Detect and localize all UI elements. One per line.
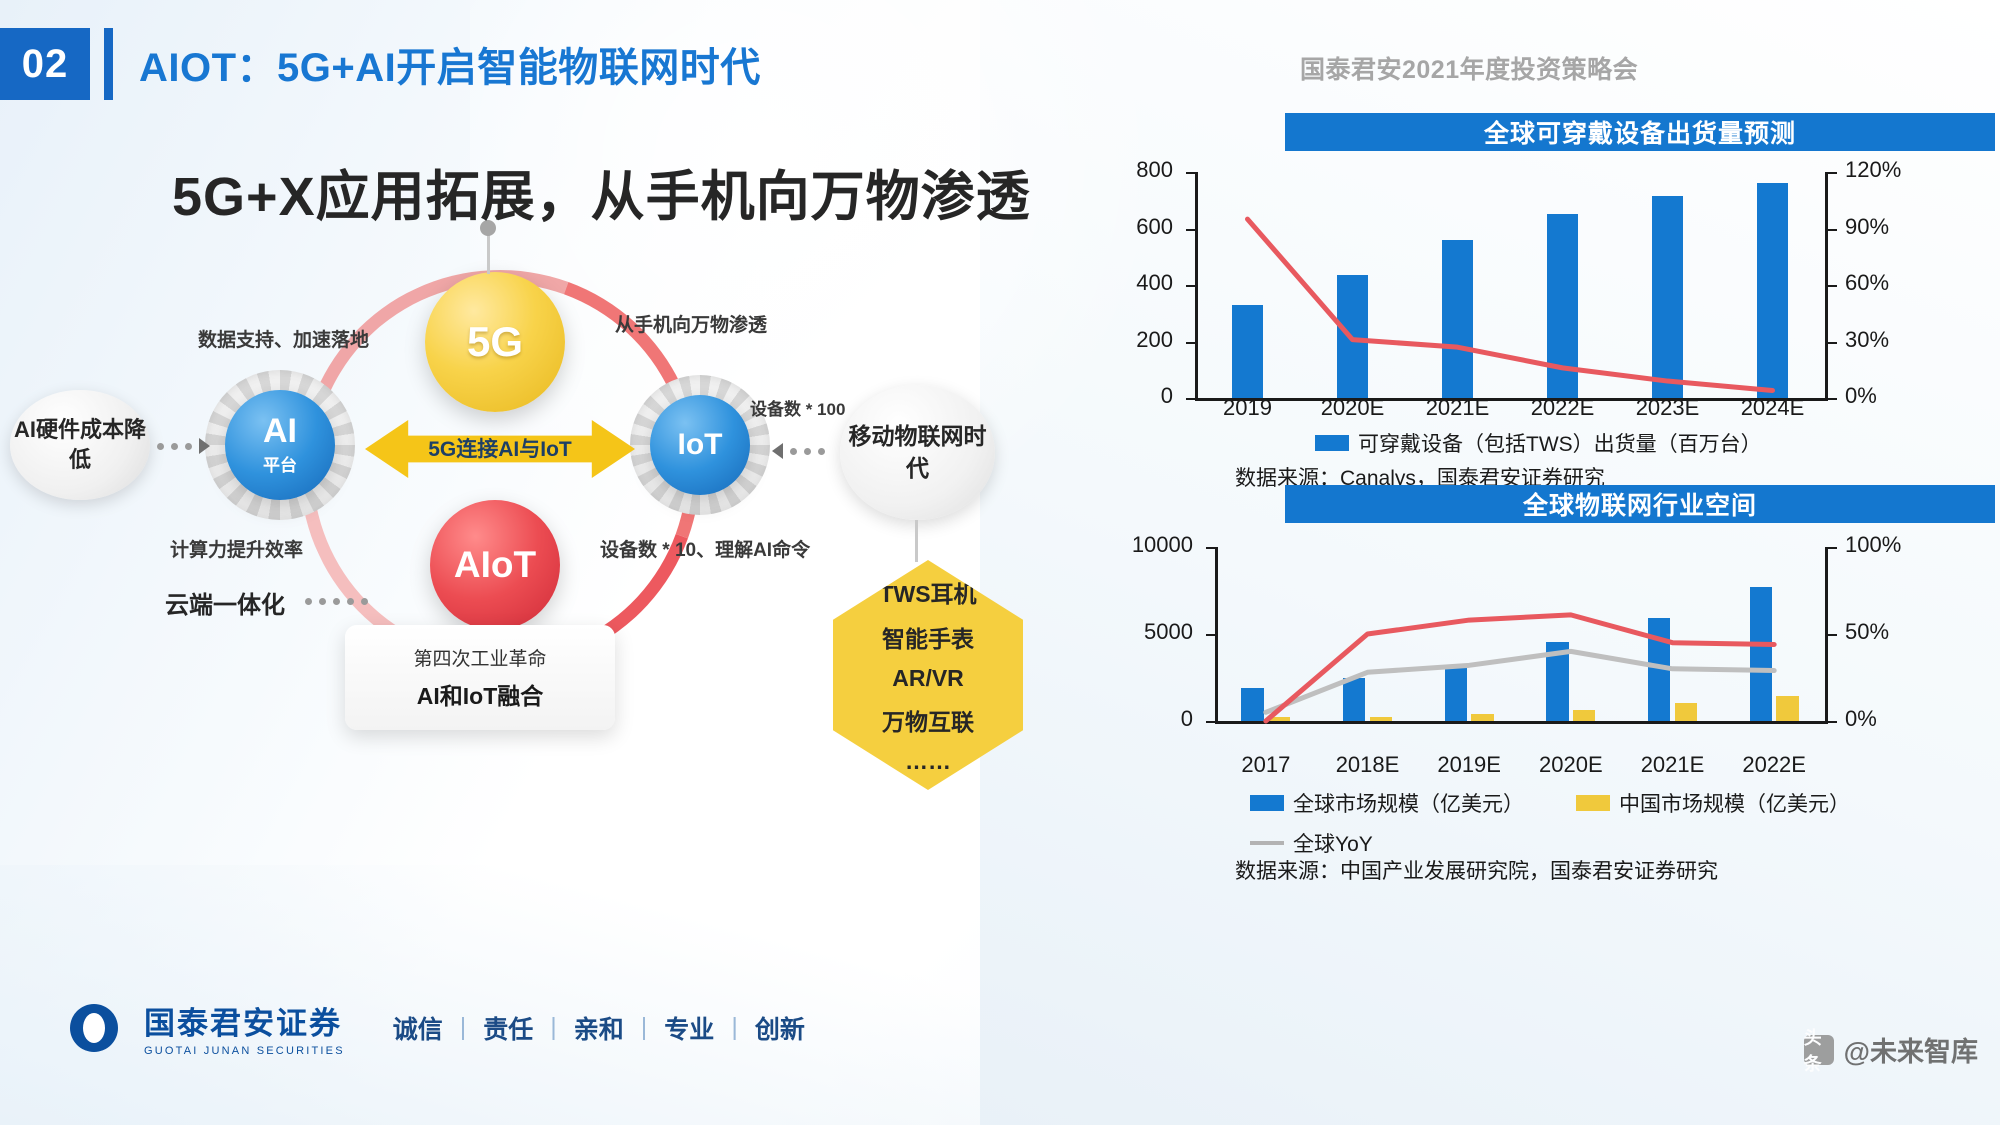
x-tick-label: 2017 — [1241, 752, 1290, 778]
x-tick-label: 2019 — [1223, 395, 1272, 421]
slide-headline: 5G+X应用拓展，从手机向万物渗透 — [172, 152, 1031, 231]
pill-mobile-iot-era: 移动物联网时代 — [840, 385, 995, 520]
label-cloud-edge: 云端一体化 — [165, 585, 285, 620]
logo-name-en: GUOTAI JUNAN SECURITIES — [144, 1045, 345, 1057]
chart-1-legend-label-0: 可穿戴设备（包括TWS）出货量（百万台） — [1358, 428, 1762, 458]
logo-text: 国泰君安证券 GUOTAI JUNAN SECURITIES — [144, 998, 345, 1057]
node-iot-label: IoT — [678, 428, 723, 462]
x-tick-label: 2019E — [1437, 752, 1501, 778]
legend-swatch-yellow-icon — [1576, 795, 1610, 811]
chart-1-title: 全球可穿戴设备出货量预测 — [1285, 113, 1995, 151]
chart-2-legend-item-0: 全球市场规模（亿美元） — [1250, 788, 1524, 818]
value-3: 专业 — [664, 1010, 714, 1046]
hex-item-2: AR/VR — [892, 665, 964, 692]
chart-lines — [1005, 525, 1885, 731]
x-tick-label: 2022E — [1742, 752, 1806, 778]
hex-item-1: 智能手表 — [882, 620, 974, 654]
chart-2-plot-area: 1000050000100%50%0% — [1005, 525, 2000, 755]
chart-2-legend-item-1: 中国市场规模（亿美元） — [1576, 788, 1850, 818]
chart-2-legend-label-1: 中国市场规模（亿美元） — [1619, 788, 1850, 818]
connector-dots-cloud — [305, 598, 368, 605]
node-ai-label: AI — [263, 414, 297, 448]
node-aiot[interactable]: AIoT — [430, 500, 560, 630]
node-iot[interactable]: IoT — [650, 395, 750, 495]
chart-2-source: 数据来源：中国产业发展研究院，国泰君安证券研究 — [1235, 855, 1718, 885]
label-devices-100: 设备数 * 100 — [750, 395, 845, 420]
card-line-2: AI和IoT融合 — [417, 677, 544, 711]
value-sep-1: | — [550, 1013, 557, 1042]
x-tick-label: 2023E — [1636, 395, 1700, 421]
section-number: 02 — [0, 28, 90, 100]
chart-2-xaxis: 20172018E2019E2020E2021E2022E — [1300, 752, 2000, 786]
legend-swatch-gray-line-icon — [1250, 841, 1284, 845]
chart-2-legend-label-0: 全球市场规模（亿美元） — [1293, 788, 1524, 818]
chart-1-xaxis: 20192020E2021E2022E2023E2024E — [1300, 395, 2000, 429]
x-tick-label: 2020E — [1539, 752, 1603, 778]
value-sep-0: | — [460, 1013, 467, 1042]
deck-title: 国泰君安2021年度投资策略会 — [1300, 50, 1638, 86]
value-sep-3: | — [731, 1013, 738, 1042]
footer-branding: 国泰君安证券 GUOTAI JUNAN SECURITIES 诚信 | 责任 |… — [70, 998, 805, 1057]
value-4: 创新 — [755, 1010, 805, 1046]
x-tick-label: 2018E — [1336, 752, 1400, 778]
chart-2-legend-label-2: 全球YoY — [1293, 828, 1373, 858]
node-ai[interactable]: AI 平台 — [225, 390, 335, 500]
logo-name-cn: 国泰君安证券 — [144, 998, 345, 1043]
chart-2-title: 全球物联网行业空间 — [1285, 485, 1995, 523]
value-1: 责任 — [483, 1010, 533, 1046]
hex-item-4: …… — [905, 748, 951, 775]
label-data-support: 数据支持、加速落地 — [198, 325, 369, 352]
card-line-1: 第四次工业革命 — [413, 644, 546, 671]
connector-hex-vertical — [915, 520, 918, 562]
value-0: 诚信 — [393, 1010, 443, 1046]
node-5g-label: 5G — [467, 318, 523, 366]
x-tick-label: 2020E — [1321, 395, 1385, 421]
label-compute-power: 计算力提升效率 — [170, 535, 303, 562]
value-sep-2: | — [641, 1013, 648, 1042]
connector-dots-right — [772, 443, 825, 459]
aiot-diagram: 5G连接AI与IoT 5G AI 平台 IoT AIoT 数据支持、加速落地 从… — [0, 230, 1000, 870]
node-ai-sublabel: 平台 — [263, 451, 297, 476]
pill-ai-cost: AI硬件成本降低 — [10, 390, 150, 500]
value-2: 亲和 — [574, 1010, 624, 1046]
chart-2-legend-item-2: 全球YoY — [1250, 828, 1990, 858]
toutiao-icon: 头条 — [1804, 1035, 1834, 1065]
x-tick-label: 2024E — [1741, 395, 1805, 421]
background-bottom-wash — [0, 865, 1000, 1125]
hex-item-3: 万物互联 — [882, 703, 974, 737]
page-title: AIOT：5G+AI开启智能物联网时代 — [139, 35, 761, 93]
chart-panel-iot-space: 全球物联网行业空间 — [1285, 485, 1995, 523]
chart-lines — [1005, 150, 1885, 408]
label-devices-10: 设备数 * 10、理解AI命令 — [600, 535, 810, 562]
x-tick-label: 2021E — [1426, 395, 1490, 421]
slide-header: 02 AIOT：5G+AI开启智能物联网时代 — [0, 28, 761, 100]
hex-applications: TWS耳机 智能手表 AR/VR 万物互联 …… — [833, 560, 1023, 790]
label-from-phone: 从手机向万物渗透 — [615, 310, 767, 337]
guotai-junan-logo-icon — [70, 1004, 118, 1052]
x-tick-label: 2021E — [1641, 752, 1705, 778]
header-accent-bar — [104, 28, 113, 100]
node-aiot-label: AIoT — [454, 544, 536, 586]
watermark-text: @未来智库 — [1844, 1030, 1978, 1069]
watermark: 头条 @未来智库 — [1804, 1030, 1978, 1069]
connector-dots-left — [157, 438, 210, 454]
corporate-values: 诚信 | 责任 | 亲和 | 专业 | 创新 — [393, 1010, 805, 1046]
connector-5g-vertical — [487, 230, 490, 274]
x-tick-label: 2022E — [1531, 395, 1595, 421]
chart-2-legend: 全球市场规模（亿美元） 中国市场规模（亿美元） 全球YoY — [1250, 788, 1990, 858]
legend-swatch-blue-icon — [1250, 795, 1284, 811]
hex-item-0: TWS耳机 — [879, 575, 976, 609]
legend-swatch-blue-icon — [1315, 435, 1349, 451]
card-fourth-industrial-revolution: 第四次工业革命 AI和IoT融合 — [345, 625, 615, 730]
chart-panel-wearables: 全球可穿戴设备出货量预测 — [1285, 113, 1995, 151]
connect-arrow-label: 5G连接AI与IoT — [375, 433, 625, 463]
chart-1-legend: 可穿戴设备（包括TWS）出货量（百万台） — [1315, 428, 1762, 458]
chart-1-legend-item-0: 可穿戴设备（包括TWS）出货量（百万台） — [1315, 428, 1762, 458]
node-5g[interactable]: 5G — [425, 272, 565, 412]
